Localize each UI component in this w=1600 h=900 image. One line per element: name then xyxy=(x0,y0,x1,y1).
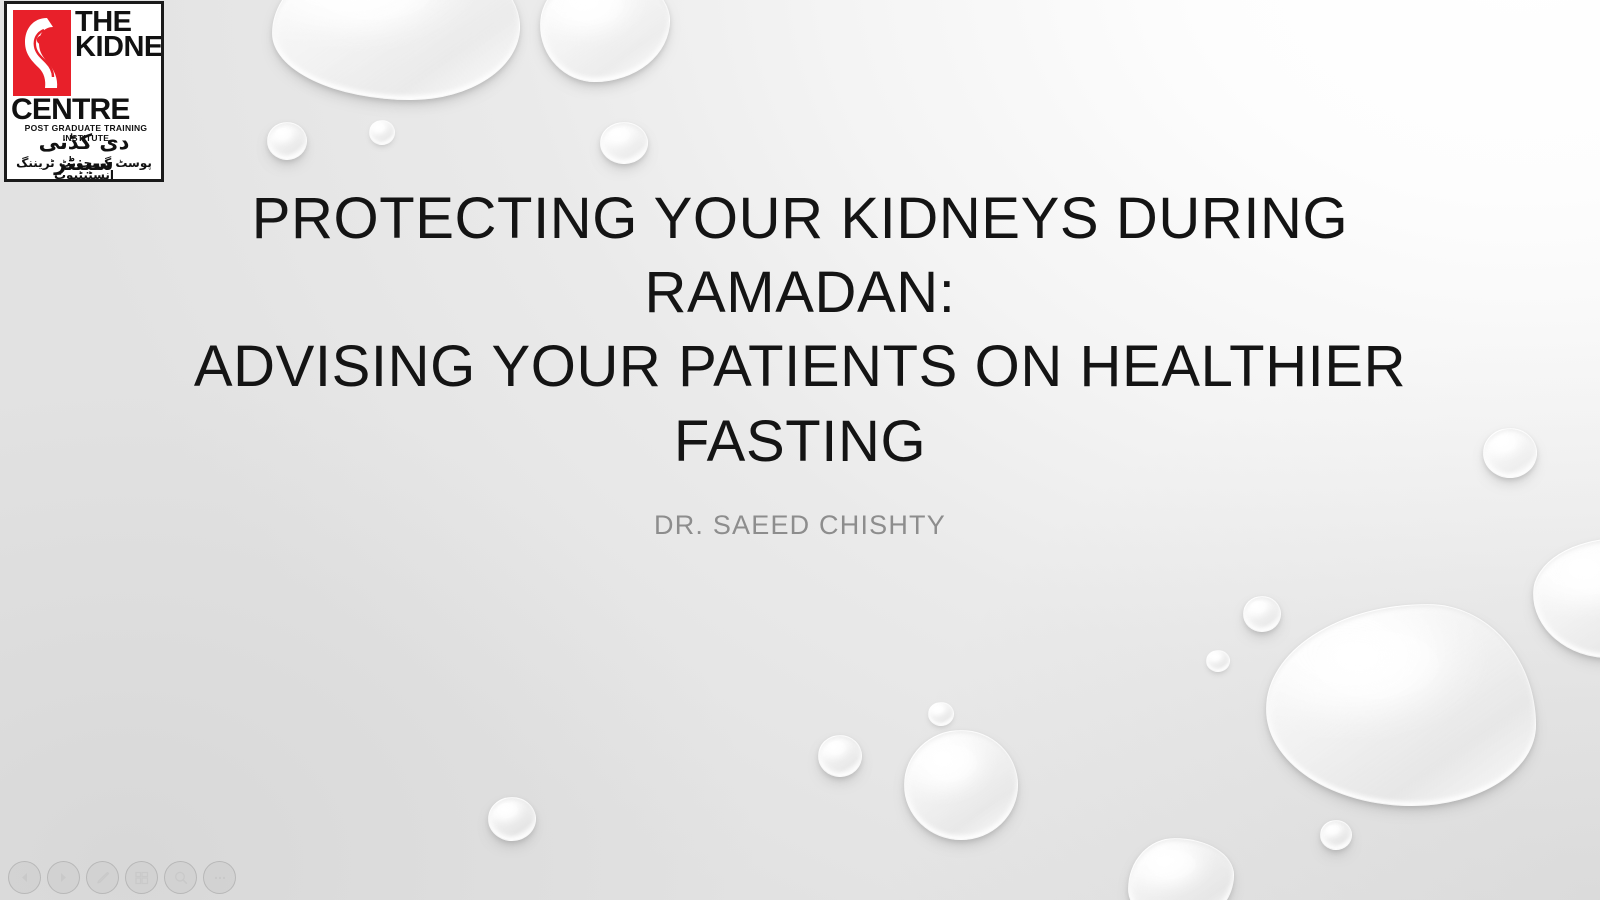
zoom-slide-button[interactable] xyxy=(164,861,197,894)
triangle-right-icon xyxy=(57,871,70,884)
logo-wordmark: THE KIDNEY xyxy=(75,10,164,60)
ellipsis-icon xyxy=(212,870,228,886)
logo-line-kidney: KIDNEY xyxy=(75,35,164,60)
water-droplet xyxy=(369,120,395,145)
water-droplet xyxy=(600,122,648,164)
pen-tool-button[interactable] xyxy=(86,861,119,894)
logo-urdu-tagline: پوسٹ گریجویٹ ٹریننگ انسٹیٹیوٹ xyxy=(7,157,161,181)
water-droplet xyxy=(928,702,954,726)
logo-line-centre: CENTRE xyxy=(11,96,161,123)
next-slide-button[interactable] xyxy=(47,861,80,894)
slideshow-control-toolbar[interactable] xyxy=(8,861,236,894)
grid-slides-icon xyxy=(134,870,150,886)
water-droplet xyxy=(1483,428,1537,478)
pen-icon xyxy=(95,870,111,886)
water-droplet xyxy=(1243,596,1281,632)
water-droplet xyxy=(904,730,1018,840)
slide-subtitle: DR. SAEED CHISHTY xyxy=(180,510,1420,541)
water-droplet xyxy=(267,122,307,160)
water-droplet xyxy=(1320,820,1352,850)
triangle-left-icon xyxy=(18,871,31,884)
organization-logo: THE KIDNEY CENTRE POST GRADUATE TRAINING… xyxy=(4,1,164,182)
water-droplet xyxy=(818,735,862,777)
more-options-button[interactable] xyxy=(203,861,236,894)
slide-title: PROTECTING YOUR KIDNEYS DURING RAMADAN: … xyxy=(180,182,1420,479)
water-droplet xyxy=(1206,650,1230,672)
water-droplet xyxy=(488,797,536,841)
presentation-slide: THE KIDNEY CENTRE POST GRADUATE TRAINING… xyxy=(0,0,1600,900)
previous-slide-button[interactable] xyxy=(8,861,41,894)
magnifier-icon xyxy=(173,870,189,886)
all-slides-button[interactable] xyxy=(125,861,158,894)
kidney-symbol-icon xyxy=(13,10,71,96)
